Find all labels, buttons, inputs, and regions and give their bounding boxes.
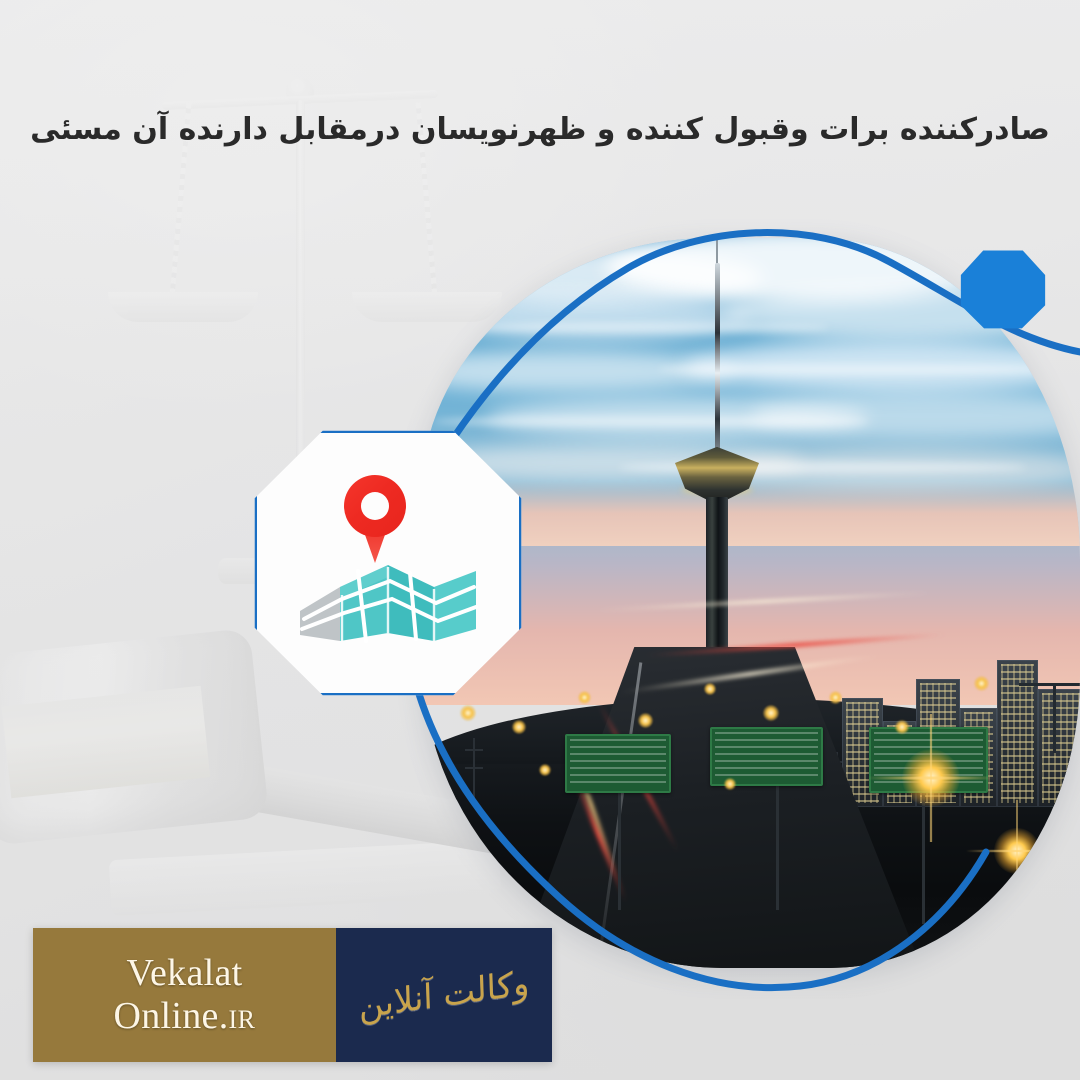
logo-mark-calligraphy: وکالت آنلاین (358, 966, 530, 1024)
site-logo[interactable]: وکالت آنلاین Vekalat Online.IR (33, 928, 552, 1062)
page-headline: صادرکننده برات وقبول کننده و ظهرنویسان د… (0, 112, 1080, 147)
logo-online-text: Online. (113, 995, 228, 1037)
logo-tld-text: IR (229, 1005, 256, 1034)
map-location-badge[interactable] (252, 428, 524, 698)
lens-flare (902, 749, 960, 807)
highway-sign (710, 727, 822, 785)
logo-line-vekalat: Vekalat (126, 953, 242, 994)
lens-flare (993, 828, 1039, 874)
power-pylon (473, 738, 475, 800)
logo-wordmark: Vekalat Online.IR (33, 928, 336, 1062)
highway-sign (565, 734, 671, 792)
logo-mark: وکالت آنلاین (336, 928, 552, 1062)
map-pin-icon (344, 475, 406, 563)
logo-line-online: Online.IR (113, 996, 255, 1037)
